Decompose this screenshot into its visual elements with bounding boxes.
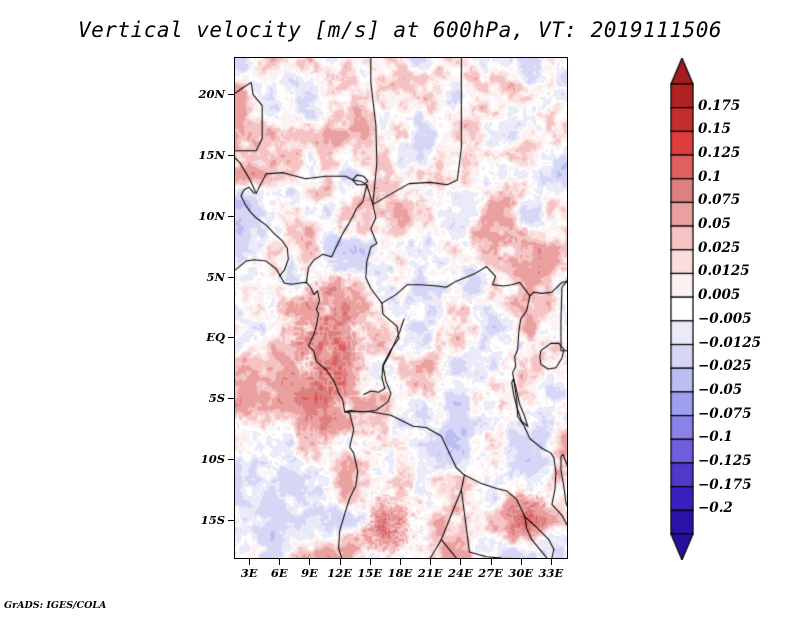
y-tick-label: 15S <box>177 513 225 527</box>
x-tick-label: 33E <box>531 566 571 580</box>
x-tick-mark <box>551 559 552 565</box>
colorbar-tick-label: 0.125 <box>698 147 740 161</box>
colorbar <box>670 58 694 560</box>
y-tick-label: 20N <box>177 87 225 101</box>
y-tick-label: 5N <box>177 270 225 284</box>
page-title: Vertical velocity [m/s] at 600hPa, VT: 2… <box>0 18 800 42</box>
y-tick-label: 15N <box>177 148 225 162</box>
map-plot-area <box>234 57 568 559</box>
attribution-footer: GrADS: IGES/COLA <box>4 600 106 611</box>
x-tick-mark <box>370 559 371 565</box>
colorbar-tick-label: 0.15 <box>698 123 731 137</box>
colorbar-tick-label: 0.175 <box>698 100 740 114</box>
y-tick-label: 10S <box>177 452 225 466</box>
colorbar-tick-label: −0.0125 <box>698 337 761 351</box>
x-tick-mark <box>430 559 431 565</box>
colorbar-tick-label: 0.025 <box>698 242 740 256</box>
colorbar-tick-label: −0.175 <box>698 479 752 493</box>
x-tick-mark <box>340 559 341 565</box>
colorbar-tick-label: 0.075 <box>698 194 740 208</box>
colorbar-gradient <box>670 58 694 560</box>
x-tick-mark <box>521 559 522 565</box>
colorbar-tick-label: 0.005 <box>698 289 740 303</box>
y-tick-mark <box>228 337 234 338</box>
country-borders-overlay <box>235 58 567 558</box>
y-tick-label: EQ <box>177 330 225 344</box>
x-tick-mark <box>309 559 310 565</box>
y-tick-mark <box>228 459 234 460</box>
y-tick-mark <box>228 155 234 156</box>
y-tick-mark <box>228 520 234 521</box>
y-tick-label: 10N <box>177 209 225 223</box>
x-tick-mark <box>460 559 461 565</box>
colorbar-tick-label: −0.2 <box>698 502 733 516</box>
y-tick-mark <box>228 398 234 399</box>
colorbar-tick-label: −0.025 <box>698 360 752 374</box>
y-tick-mark <box>228 216 234 217</box>
y-tick-mark <box>228 277 234 278</box>
colorbar-tick-label: −0.125 <box>698 455 752 469</box>
colorbar-tick-label: −0.005 <box>698 313 752 327</box>
colorbar-tick-label: 0.0125 <box>698 265 750 279</box>
colorbar-tick-label: −0.1 <box>698 431 733 445</box>
x-tick-mark <box>279 559 280 565</box>
x-tick-mark <box>491 559 492 565</box>
y-tick-mark <box>228 94 234 95</box>
colorbar-tick-label: 0.05 <box>698 218 731 232</box>
x-tick-mark <box>249 559 250 565</box>
y-tick-label: 5S <box>177 391 225 405</box>
colorbar-tick-label: −0.075 <box>698 408 752 422</box>
colorbar-tick-label: −0.05 <box>698 384 742 398</box>
x-tick-mark <box>400 559 401 565</box>
colorbar-tick-label: 0.1 <box>698 171 722 185</box>
